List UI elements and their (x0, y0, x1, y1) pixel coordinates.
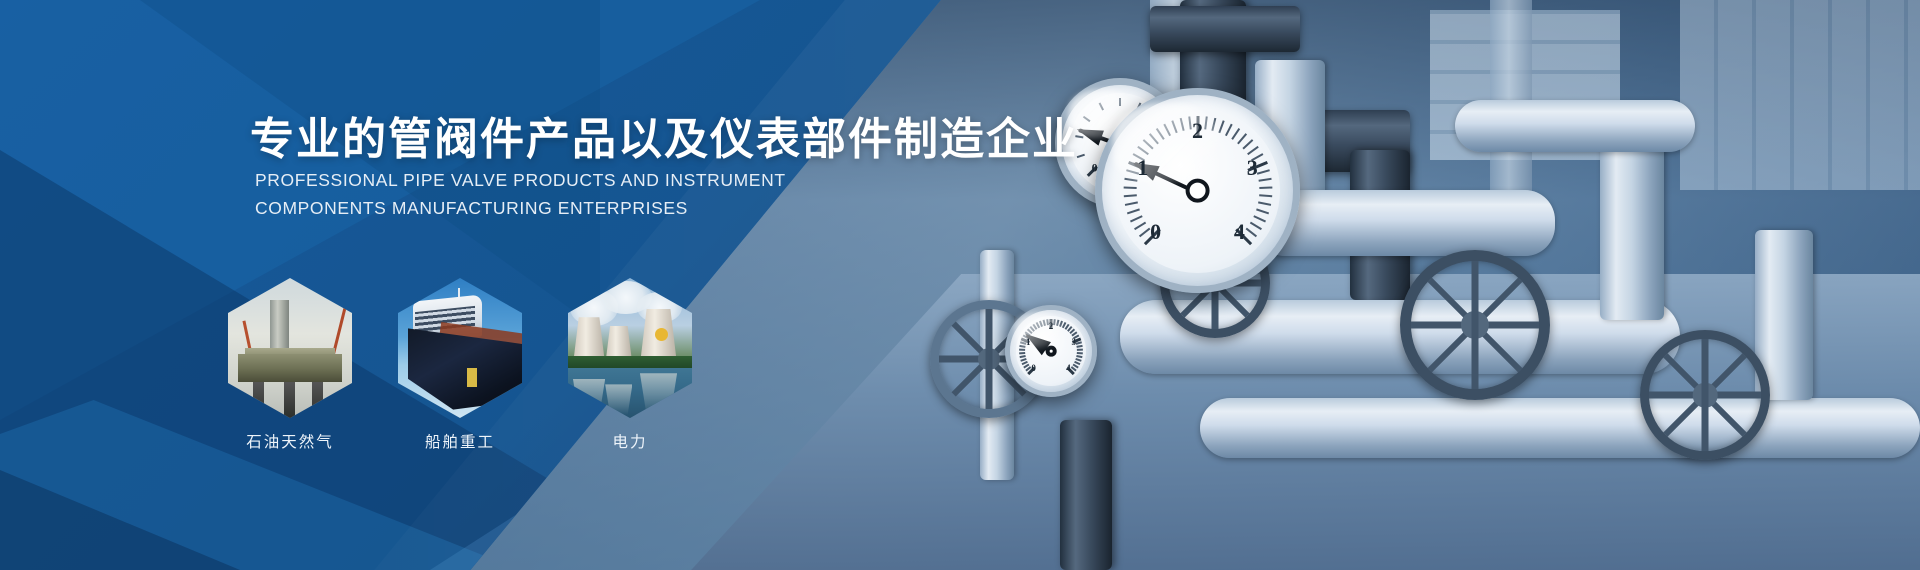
tower-reflection (573, 379, 605, 415)
rig-leg (284, 382, 295, 418)
gauge-pin (1046, 346, 1057, 357)
gauge-tick (1252, 215, 1265, 222)
gauge-tick (1236, 133, 1246, 144)
gauge-tick (1126, 208, 1139, 214)
gauge-tick (1256, 169, 1269, 175)
gauge-number: 1 (1137, 155, 1148, 181)
gauge-number: 0 (1031, 363, 1036, 373)
lower-dark-pipe-icon (1060, 420, 1112, 570)
gauge-tick (1077, 352, 1083, 354)
pressure-gauge-main-icon: 01234 (1095, 88, 1300, 293)
top-valve-body-icon (1150, 6, 1300, 52)
power-plant-scene (568, 278, 692, 418)
window-panel-secondary-icon (1680, 0, 1920, 190)
gauge-tick (1138, 227, 1150, 237)
valve-handwheel-right-icon (1640, 330, 1770, 460)
industry-item-shipbuilding[interactable]: 船舶重工 (398, 278, 522, 418)
subtitle-line-1: PROFESSIONAL PIPE VALVE PRODUCTS AND INS… (255, 170, 786, 191)
handwheel-hub (978, 348, 1000, 370)
gauge-tick (1124, 201, 1138, 206)
upper-branch-pipe-icon (1455, 100, 1695, 152)
rig-platform-deck (238, 354, 342, 382)
gauge-tick (1123, 186, 1136, 189)
gauge-number: 2 (1049, 321, 1054, 331)
gauge-tick (1258, 194, 1272, 197)
gauge-number: 3 (1247, 155, 1258, 181)
industry-item-oil-gas[interactable]: 石油天然气 (228, 278, 352, 418)
valve-handwheel-large-icon (1400, 250, 1550, 400)
gauge-number: 2 (1192, 118, 1203, 144)
gauge-number: 3 (1071, 337, 1076, 347)
hero-banner: 02 01234 01234 专业的管阀件产品以及仪表部件制造企业 PRO (0, 0, 1920, 570)
industry-label-oil-gas: 石油天然气 (228, 430, 352, 452)
ship-icon[interactable] (398, 278, 522, 418)
rig-crane-icon (332, 299, 348, 354)
gauge-tick (1258, 178, 1272, 182)
gauge-pin (1185, 178, 1210, 203)
gauge-tick (1019, 349, 1025, 351)
industry-icon-row: 石油天然气 船舶重工 (228, 278, 748, 458)
gauge-number: 4 (1234, 219, 1245, 245)
gauge-tick (1231, 128, 1240, 140)
gauge-tick (1258, 186, 1271, 189)
headline-chinese: 专业的管阀件产品以及仪表部件制造企业 (250, 103, 1078, 167)
gauge-number: 4 (1066, 363, 1071, 373)
gauge-tick (1255, 208, 1268, 214)
gauge-tick (1249, 221, 1261, 230)
ship-scene (398, 278, 522, 418)
gauge-number: 0 (1150, 219, 1161, 245)
gauge-tick (1077, 349, 1083, 351)
handwheel-hub (1693, 383, 1718, 408)
gauge-tick (1134, 221, 1146, 230)
rig-leg (312, 382, 323, 418)
industry-item-power[interactable]: 电力 (568, 278, 692, 418)
rig-leg (253, 382, 264, 418)
industry-label-power: 电力 (568, 430, 692, 452)
subtitle-line-2: COMPONENTS MANUFACTURING ENTERPRISES (255, 198, 688, 219)
power-plant-icon[interactable] (568, 278, 692, 418)
banner-content: 专业的管阀件产品以及仪表部件制造企业 PROFESSIONAL PIPE VAL… (0, 0, 900, 570)
oil-rig-scene (228, 278, 352, 418)
ship-porthole (467, 368, 477, 388)
gauge-tick (1077, 345, 1083, 348)
industry-label-shipbuilding: 船舶重工 (398, 430, 522, 452)
gauge-tick (1257, 201, 1271, 206)
lower-process-pipe-icon (1200, 398, 1920, 458)
gauge-tick (1242, 139, 1253, 150)
gauge-tick (1245, 227, 1257, 237)
pressure-gauge-small-icon: 01234 (1005, 305, 1097, 397)
gauge-tick (1123, 194, 1137, 197)
gauge-tick (1224, 124, 1232, 137)
oil-rig-icon[interactable] (228, 278, 352, 418)
insulated-pipe-horizontal-icon (1255, 190, 1555, 256)
gauge-number: 1 (1026, 337, 1031, 347)
gauge-tick (1130, 215, 1143, 222)
